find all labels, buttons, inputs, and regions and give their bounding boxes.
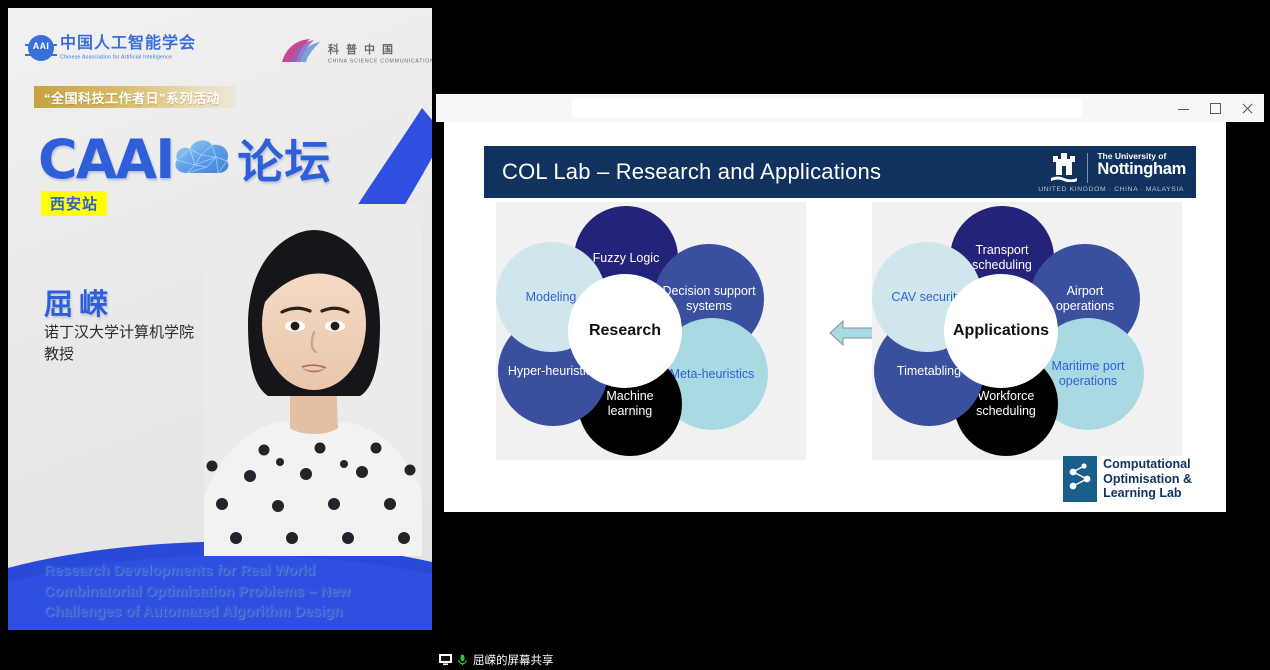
screen: 中国人工智能学会 Chinese Association for Artific… <box>0 0 1270 638</box>
caai-wordmark-text: CAAI <box>38 128 173 191</box>
meeting-window: COL Lab – Research and Applications <box>436 6 1264 632</box>
diagram-center-applications: Applications <box>944 274 1058 388</box>
kepu-name-en: CHINA SCIENCE COMMUNICATION <box>328 59 432 64</box>
screen-share-status-bar: 屈嵘的屏幕共享 <box>436 650 1267 670</box>
slide-title: COL Lab – Research and Applications <box>502 159 881 185</box>
speaker-portrait <box>204 204 422 556</box>
university-name: Nottingham <box>1097 161 1186 178</box>
microphone-icon <box>456 654 469 666</box>
cluster-applications: Computational Optimisation & Learning La… <box>862 198 1192 496</box>
forum-label-cn: 论坛 <box>237 126 331 192</box>
research-applications-diagram: Fuzzy LogicDecision support systemsMeta-… <box>484 198 1196 496</box>
nottingham-crest-icon <box>1050 152 1078 182</box>
china-science-communication-logo: 科普中国 CHINA SCIENCE COMMUNICATION <box>280 38 421 64</box>
diagram-node-label: Fuzzy Logic <box>587 251 666 266</box>
monitor-icon <box>439 654 452 666</box>
diagram-center-label: Applications <box>947 322 1055 341</box>
col-lab-logo: Computational Optimisation & Learning La… <box>1063 456 1194 502</box>
caai-association-logo: 中国人工智能学会 Chinese Association for Artific… <box>28 35 196 61</box>
caai-name-en: Chinese Association for Artificial Intel… <box>60 55 220 60</box>
col-lab-line3: Learning Lab <box>1103 486 1192 501</box>
col-lab-name: Computational Optimisation & Learning La… <box>1101 456 1194 502</box>
slide-header: COL Lab – Research and Applications <box>484 146 1196 198</box>
col-lab-line2: Optimisation & <box>1103 472 1192 487</box>
university-of-nottingham-logo: The University of Nottingham <box>1050 152 1186 183</box>
speaker-name: 屈嵘 <box>44 281 114 323</box>
window-title-field[interactable] <box>572 98 1082 118</box>
window-titlebar[interactable] <box>436 94 1264 122</box>
university-countries: UNITED KINGDOM · CHINA · MALAYSIA <box>1038 186 1184 193</box>
col-lab-line1: Computational <box>1103 457 1192 472</box>
shared-screen-area: COL Lab – Research and Applications <box>436 122 1264 532</box>
presentation-slide: COL Lab – Research and Applications <box>444 122 1226 512</box>
logo-divider <box>1087 153 1088 183</box>
cloud-icon <box>171 135 233 179</box>
minimize-icon[interactable] <box>1177 102 1190 115</box>
event-series-text: “全国科技工作者日”系列活动 <box>44 88 220 107</box>
maximize-icon[interactable] <box>1209 102 1222 115</box>
event-poster-panel: 中国人工智能学会 Chinese Association for Artific… <box>8 8 432 630</box>
video-area-bottom <box>436 558 1264 628</box>
kepu-name-cn: 科普中国 <box>328 45 421 56</box>
window-controls <box>1177 94 1254 122</box>
diagram-center-research: Research <box>568 274 682 388</box>
close-icon[interactable] <box>1241 102 1254 115</box>
kepu-feather-icon <box>280 38 322 64</box>
talk-title: Research Developments for Real World Com… <box>44 561 384 623</box>
diagram-node-label: Meta-heuristics <box>664 367 761 382</box>
diagram-center-label: Research <box>583 322 667 341</box>
event-series-banner: “全国科技工作者日”系列活动 <box>34 86 236 108</box>
diagram-node-label: Modeling <box>520 290 583 305</box>
caai-forum-wordmark: CAAI 论坛 <box>38 126 331 192</box>
cluster-research: Fuzzy LogicDecision support systemsMeta-… <box>486 198 816 496</box>
col-lab-network-icon <box>1063 456 1097 502</box>
city-badge: 西安站 <box>41 191 107 216</box>
screen-share-status-text: 屈嵘的屏幕共享 <box>473 652 554 668</box>
city-badge-text: 西安站 <box>50 196 98 213</box>
video-area-top <box>436 10 1264 94</box>
slide-content: COL Lab – Research and Applications <box>462 146 1212 496</box>
caai-name-cn: 中国人工智能学会 <box>60 36 196 52</box>
caai-emblem-icon <box>28 35 54 61</box>
